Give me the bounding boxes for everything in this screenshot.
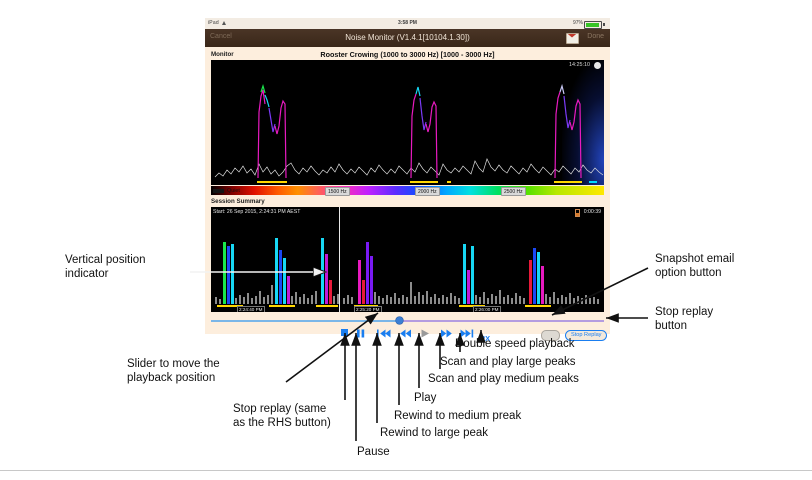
time-label: 2:25:20 PM [354, 306, 382, 313]
annotation-scan-large-peaks-line: Scan and play large peaks [440, 355, 576, 369]
annotation-vertical-position-indicator: Vertical positionindicator [65, 253, 146, 281]
annotation-stop-replay-same-line: as the RHS button) [233, 416, 331, 430]
background-bar [491, 294, 493, 304]
annotation-pause-line: Pause [357, 445, 390, 459]
background-bar [515, 293, 517, 304]
background-bar [573, 298, 575, 304]
peak-bar [467, 270, 470, 304]
event-baseline [269, 305, 295, 306]
background-bar [483, 292, 485, 304]
time-label: 2:26:00 PM [473, 306, 501, 313]
app-title: Noise Monitor (V1.4.1[10104.1.30]) [205, 33, 610, 42]
slider-knob[interactable] [396, 317, 403, 324]
background-bar [382, 298, 384, 304]
peak-bar [325, 254, 328, 304]
annotation-rewind-medium-peak: Rewind to medium preak [394, 409, 521, 423]
background-bar [299, 297, 301, 304]
event-baseline [525, 305, 551, 306]
event-marker [447, 181, 451, 183]
background-bar [406, 297, 408, 304]
app-nav-bar: Cancel Noise Monitor (V1.4.1[10104.1.30]… [205, 29, 610, 47]
peak-bar [463, 244, 466, 304]
vertical-position-indicator [339, 207, 340, 312]
spectrogram-display[interactable]: 14:25:10 [211, 60, 604, 185]
background-bar [259, 291, 261, 304]
time-label: 2:24:40 PM [237, 306, 265, 313]
event-marker [554, 181, 582, 183]
background-bar [519, 296, 521, 304]
annotation-double-speed-line: Double speed playback [455, 337, 575, 351]
background-bar [597, 299, 599, 304]
spectrogram-clock: 14:25:10 [569, 62, 590, 68]
background-bar [561, 295, 563, 304]
background-bar [235, 298, 237, 304]
background-bar [503, 297, 505, 304]
background-bar [499, 290, 501, 304]
play-button[interactable] [420, 329, 430, 338]
background-bar [410, 282, 412, 304]
background-bar [479, 297, 481, 304]
background-bar [251, 298, 253, 304]
scan-medium-peaks-button[interactable] [440, 329, 453, 338]
annotation-stop-replay-button: Stop replaybutton [655, 305, 713, 333]
battery-cap-icon [603, 23, 605, 26]
rewind-large-peak-button[interactable] [377, 329, 391, 338]
background-bar [446, 297, 448, 304]
background-bar [557, 298, 559, 304]
event-baseline [316, 305, 338, 306]
quiet-label: Quiet [227, 188, 240, 194]
freq-tag-2000: 2000 Hz [415, 187, 440, 196]
peak-bar [279, 250, 282, 304]
slider-filled-track [211, 320, 400, 322]
peak-bar [321, 238, 324, 304]
background-bar [475, 295, 477, 304]
background-bar [454, 296, 456, 304]
background-bar [291, 296, 293, 304]
background-bar [458, 298, 460, 304]
annotation-pause: Pause [357, 445, 390, 459]
annotation-double-speed: Double speed playback [455, 337, 575, 351]
background-bar [374, 292, 376, 304]
monitor-title: Rooster Crowing (1000 to 3000 Hz) [1000 … [205, 50, 610, 59]
background-bar [577, 296, 579, 304]
background-bar [271, 285, 273, 304]
mail-icon[interactable] [566, 33, 579, 44]
background-bar [267, 295, 269, 304]
event-marker [257, 181, 287, 183]
annotation-stop-replay-same-line: Stop replay (same [233, 402, 331, 416]
quiet-swatch-icon [213, 189, 224, 193]
session-summary-label: Session Summary [211, 198, 265, 205]
annotation-stop-replay-same: Stop replay (sameas the RHS button) [233, 402, 331, 430]
background-bar [219, 299, 221, 304]
background-bar [593, 297, 595, 304]
background-bar [495, 296, 497, 304]
battery-icon [584, 21, 602, 29]
background-bar [450, 293, 452, 304]
ios-status-bar: iPad 3:58 PM 97% [205, 18, 610, 29]
annotation-slider: Slider to move theplayback position [127, 357, 220, 385]
background-bar [565, 297, 567, 304]
annotation-snapshot-email-line: option button [655, 266, 734, 280]
background-bar [247, 293, 249, 304]
annotation-scan-large-peaks: Scan and play large peaks [440, 355, 576, 369]
background-bar [295, 292, 297, 304]
background-bar [549, 297, 551, 304]
background-bar [390, 297, 392, 304]
frequency-colour-scale [211, 186, 604, 195]
background-bar [523, 298, 525, 304]
peak-bar [366, 242, 369, 304]
background-bar [394, 293, 396, 304]
background-bar [511, 298, 513, 304]
background-bar [589, 298, 591, 304]
background-bar [398, 298, 400, 304]
background-bar [585, 295, 587, 304]
annotation-scan-medium-peaks: Scan and play medium peaks [428, 372, 579, 386]
annotation-rewind-large-peak-line: Rewind to large peak [380, 426, 488, 440]
annotation-rewind-large-peak: Rewind to large peak [380, 426, 488, 440]
background-bar [307, 298, 309, 304]
background-bar [430, 297, 432, 304]
spectrogram-trace [211, 60, 604, 185]
background-bar [386, 295, 388, 304]
pause-button[interactable] [356, 329, 366, 338]
background-bar [333, 296, 335, 304]
playback-position-slider[interactable] [211, 320, 604, 322]
background-bar [343, 298, 345, 304]
annotation-snapshot-email: Snapshot emailoption button [655, 252, 734, 280]
peak-bar [329, 280, 332, 304]
figure-bottom-rule [0, 470, 812, 471]
peak-bar [370, 256, 373, 304]
record-dot-icon [594, 62, 601, 69]
annotation-slider-line: Slider to move the [127, 357, 220, 371]
peak-bar [358, 260, 361, 304]
background-bar [243, 297, 245, 304]
status-clock: 3:58 PM [205, 20, 610, 26]
event-marker [589, 181, 597, 183]
annotation-rewind-medium-peak-line: Rewind to medium preak [394, 409, 521, 423]
background-bar [255, 296, 257, 304]
peak-bar [287, 276, 290, 304]
background-bar [414, 296, 416, 304]
background-bar [239, 295, 241, 304]
background-bar [487, 298, 489, 304]
peak-bar [529, 260, 532, 304]
background-bar [426, 291, 428, 304]
background-bar [545, 294, 547, 304]
session-summary-chart[interactable]: Start: 26 Sep 2015, 2:24:31 PM AEST 0:00… [211, 207, 604, 312]
background-bar [553, 292, 555, 304]
peak-bar [362, 280, 365, 304]
rewind-medium-peak-button[interactable] [399, 329, 412, 338]
background-bar [263, 297, 265, 304]
freq-tag-1500: 1500 Hz [325, 187, 350, 196]
background-bar [351, 297, 353, 304]
peak-bar [283, 258, 286, 304]
annotation-scan-medium-peaks-line: Scan and play medium peaks [428, 372, 579, 386]
stop-button[interactable] [341, 329, 348, 336]
background-bar [422, 295, 424, 304]
event-marker [410, 181, 438, 183]
slider-remaining-track [400, 320, 604, 322]
background-bar [378, 296, 380, 304]
annotation-snapshot-email-line: Snapshot email [655, 252, 734, 266]
freq-tag-2500: 2500 Hz [501, 187, 526, 196]
peak-bar [471, 246, 474, 304]
annotation-stop-replay-button-line: button [655, 319, 713, 333]
background-bar [303, 294, 305, 304]
peak-bar [275, 238, 278, 304]
background-bar [418, 292, 420, 304]
battery-percent-label: 97% [573, 20, 583, 26]
annotation-play-line: Play [414, 391, 436, 405]
ipad-device-frame: iPad 3:58 PM 97% Cancel Noise Monitor (V… [205, 18, 610, 334]
background-bar [215, 297, 217, 304]
peak-bar [533, 248, 536, 304]
background-bar [434, 294, 436, 304]
background-bar [569, 293, 571, 304]
background-bar [442, 295, 444, 304]
annotation-play: Play [414, 391, 436, 405]
annotation-stop-replay-button-line: Stop replay [655, 305, 713, 319]
annotation-vertical-position-indicator-line: Vertical position [65, 253, 146, 267]
background-bar [311, 295, 313, 304]
session-duration: 0:00:39 [584, 209, 601, 215]
peak-bar [223, 242, 226, 304]
peak-bar [227, 246, 230, 304]
background-bar [438, 298, 440, 304]
background-bar [507, 295, 509, 304]
background-bar [581, 298, 583, 304]
annotation-slider-line: playback position [127, 371, 220, 385]
annotation-vertical-position-indicator-line: indicator [65, 267, 146, 281]
background-bar [315, 291, 317, 304]
peak-bar [537, 252, 540, 304]
session-start-text: Start: 26 Sep 2015, 2:24:31 PM AEST [213, 209, 300, 215]
peak-bar [231, 244, 234, 304]
peak-bar [541, 266, 544, 304]
background-bar [402, 295, 404, 304]
background-bar [347, 295, 349, 304]
done-button[interactable]: Done [587, 33, 604, 40]
battery-small-icon [575, 209, 580, 217]
